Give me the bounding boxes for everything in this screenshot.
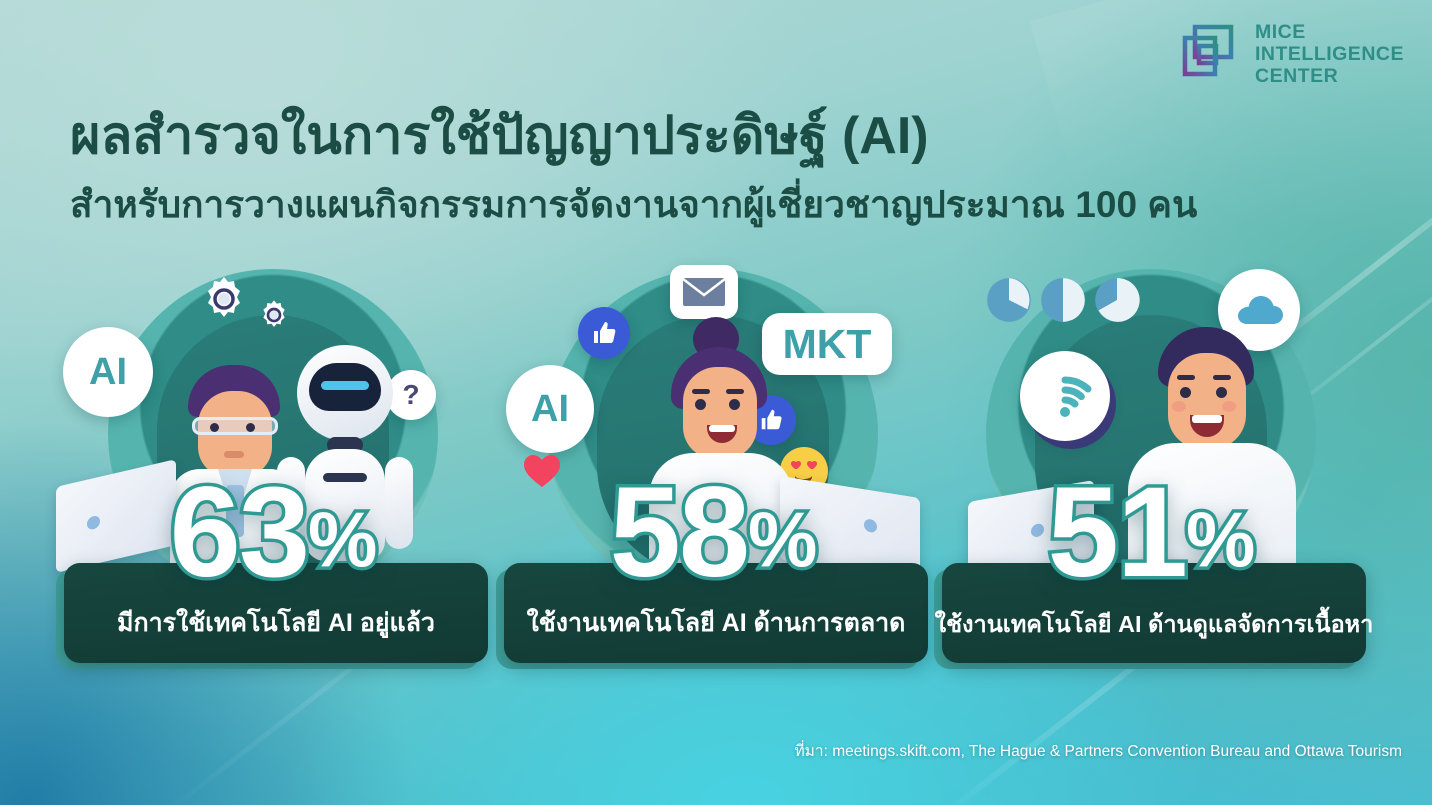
stat-label-3: ใช้งานเทคโนโลยี AI ด้านดูแลจัดการเนื้อหา [935, 606, 1374, 663]
page-subtitle: สำหรับการวางแผนกิจกรรมการจัดงานจากผู้เชี… [70, 175, 1197, 234]
stat-percent-2: 58% [490, 469, 936, 597]
stat-panel-3: 51% ใช้งานเทคโนโลยี AI ด้านดูแลจัดการเนื… [928, 255, 1374, 675]
mice-interlocking-squares-logo-icon [1181, 24, 1243, 86]
gear-icon-small [258, 299, 290, 331]
brand-logo: MICE INTELLIGENCE CENTER [1181, 22, 1404, 87]
stat-label-1: มีการใช้เทคโนโลยี AI อยู่แล้ว [117, 603, 435, 663]
light-streak [0, 0, 60, 96]
infographic-canvas: MICE INTELLIGENCE CENTER ผลสำรวจในการใช้… [0, 0, 1432, 805]
light-streak [0, 0, 140, 59]
pie-chart-icon-3 [1094, 277, 1140, 323]
stat-percent-3: 51% [928, 469, 1374, 597]
stat-label-2: ใช้งานเทคโนโลยี AI ด้านการตลาด [527, 603, 906, 663]
stat-panel-1: AI ? [50, 255, 496, 675]
thumbs-up-icon-top [578, 307, 630, 359]
stat-panel-2: MKT AI [490, 255, 936, 675]
stat-percent-1: 63% [50, 469, 496, 597]
logo-line-1: MICE [1255, 22, 1404, 44]
ai-badge: AI [63, 327, 153, 417]
gear-icon-large [200, 275, 248, 323]
pie-chart-icon-2 [1040, 277, 1086, 323]
pie-chart-icon-1 [986, 277, 1032, 323]
envelope-icon [670, 265, 738, 319]
ai-badge: AI [506, 365, 594, 453]
logo-line-3: CENTER [1255, 66, 1404, 88]
source-attribution: ที่มา: meetings.skift.com, The Hague & P… [794, 738, 1402, 763]
stats-panels: AI ? [0, 255, 1432, 675]
logo-line-2: INTELLIGENCE [1255, 44, 1404, 66]
wifi-icon [1020, 351, 1110, 441]
page-title: ผลสำรวจในการใช้ปัญญาประดิษฐ์ (AI) [70, 93, 929, 176]
